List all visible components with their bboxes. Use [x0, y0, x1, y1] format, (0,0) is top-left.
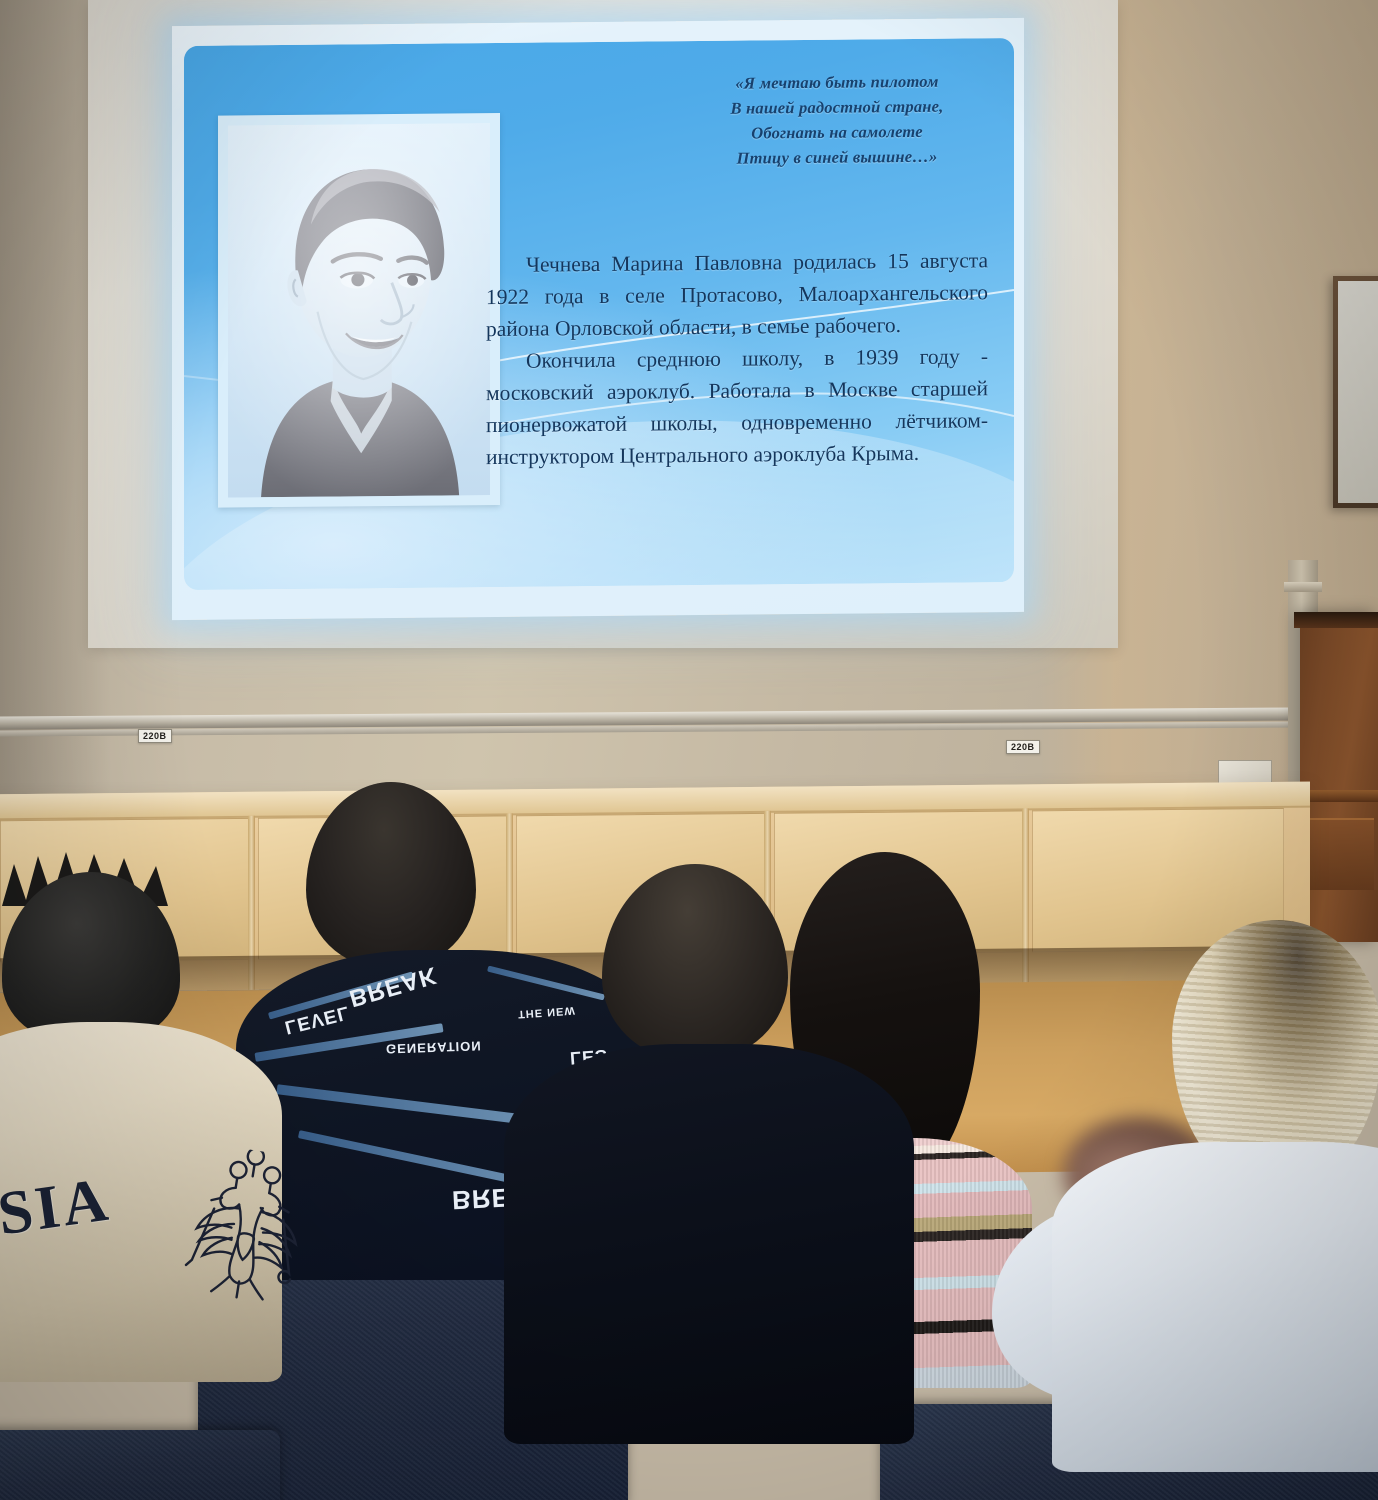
slide-content-area: «Я мечтаю быть пилотом В нашей радостной… — [184, 38, 1014, 590]
framed-picture — [1333, 276, 1378, 508]
jacket-text-generation: GENERATION — [386, 1038, 482, 1056]
russian-eagle-emblem — [171, 1141, 323, 1309]
cabinet-top-cap — [1294, 612, 1378, 628]
portrait-photo — [228, 123, 490, 498]
poem-line-1: «Я мечтаю быть пилотом — [692, 68, 982, 96]
audience-member-center — [576, 864, 896, 1500]
slide-body-text: Чечнева Марина Павловна родилась 15 авгу… — [486, 244, 988, 473]
slide-paragraph-2: Окончила среднюю школу, в 1939 году - мо… — [486, 340, 988, 473]
pillar-ledge — [1284, 582, 1322, 592]
blonde-bob-hair — [1172, 920, 1378, 1180]
portrait-frame — [218, 113, 500, 508]
audience-member-blonde — [1172, 920, 1378, 1500]
voltage-label-right: 220В — [1006, 740, 1040, 754]
cabinet-drawer — [1306, 818, 1374, 890]
poem-line-2: В нашей радостной стране, — [692, 93, 982, 121]
portrait-illustration — [228, 123, 490, 498]
audience-member-left: SIA — [0, 872, 332, 1500]
cabinet-shelf — [1300, 790, 1378, 802]
voltage-label-left: 220В — [138, 729, 172, 743]
white-shirt — [1052, 1142, 1378, 1472]
wooden-cabinet — [1300, 612, 1378, 942]
picture-mat — [1338, 281, 1378, 503]
buzz-cut-head — [602, 864, 788, 1060]
poem-line-3: Обогнать на самолете — [692, 118, 982, 146]
black-shirt — [504, 1044, 914, 1444]
poem-line-4: Птицу в синей вышине…» — [692, 143, 982, 171]
slide-paragraph-1: Чечнева Марина Павловна родилась 15 авгу… — [486, 244, 988, 345]
slide-poem: «Я мечтаю быть пилотом В нашей радостной… — [692, 68, 982, 171]
jacket-text-the-new: THE NEW — [518, 1004, 576, 1020]
classroom-presentation-photo: «Я мечтаю быть пилотом В нашей радостной… — [0, 0, 1378, 1500]
presentation-slide: «Я мечтаю быть пилотом В нашей радостной… — [172, 18, 1024, 620]
jacket-text-break: BREAK — [346, 960, 441, 1012]
